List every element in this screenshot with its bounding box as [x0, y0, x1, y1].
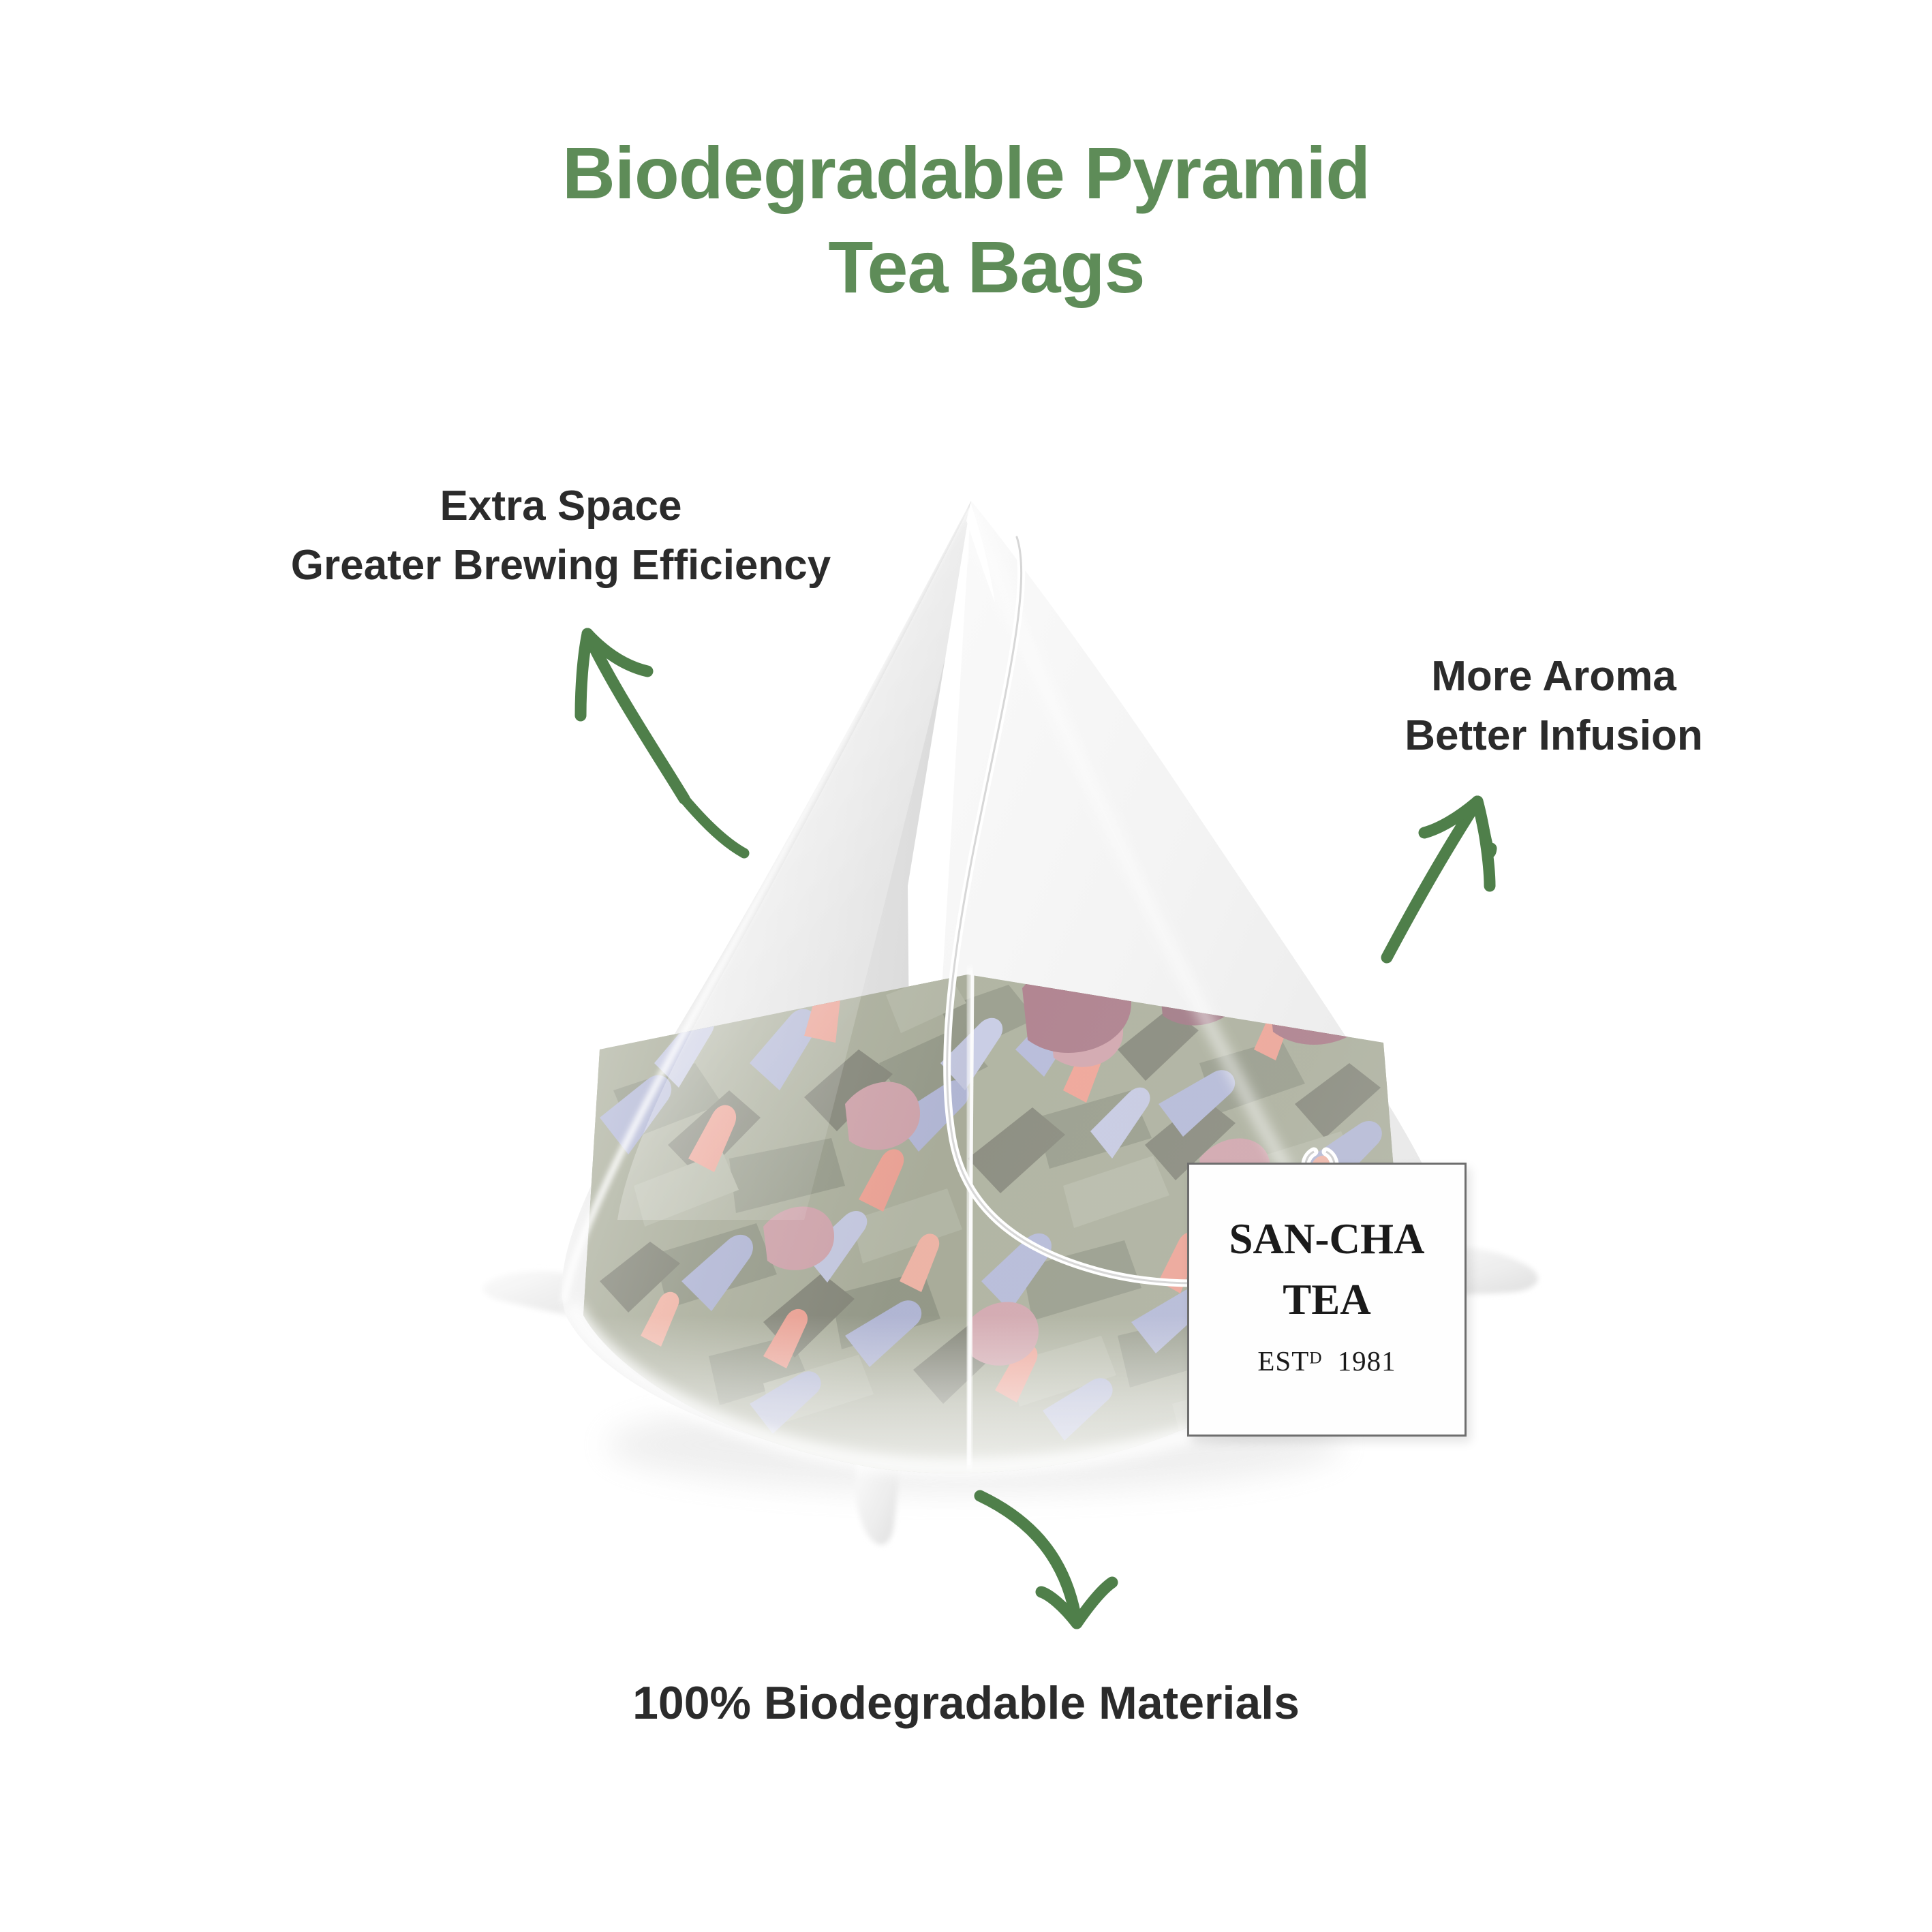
brand-tag: SAN-CHA TEA ESTD1981	[1187, 1163, 1467, 1437]
callout-bottom-line-1: 100% Biodegradable Materials	[0, 1671, 1932, 1736]
brand-name-line-1: SAN-CHA	[1189, 1218, 1465, 1261]
callout-left: Extra Space Greater Brewing Efficiency	[217, 477, 905, 596]
estd-year: 1981	[1338, 1345, 1396, 1377]
infographic-canvas: Biodegradable Pyramid Tea Bags	[0, 0, 1932, 1932]
brand-tag-text: SAN-CHA TEA ESTD1981	[1189, 1218, 1465, 1377]
callout-right: More Aroma Better Infusion	[1336, 647, 1772, 766]
tea-bag-illustration	[0, 0, 1932, 1932]
callout-left-line-2: Greater Brewing Efficiency	[217, 536, 905, 596]
estd-label: EST	[1257, 1345, 1309, 1377]
brand-name-line-2: TEA	[1189, 1278, 1465, 1321]
callout-bottom: 100% Biodegradable Materials	[0, 1671, 1932, 1736]
callout-left-line-1: Extra Space	[217, 477, 905, 536]
brand-established: ESTD1981	[1189, 1345, 1465, 1377]
estd-superscript: D	[1309, 1348, 1322, 1367]
callout-right-line-1: More Aroma	[1336, 647, 1772, 707]
arrow-right-head-barb	[1477, 801, 1490, 886]
arrow-left-shaft-tail	[684, 799, 744, 853]
arrow-left-shaft	[587, 634, 684, 799]
arrow-left	[581, 634, 744, 853]
arrow-right	[1387, 801, 1491, 957]
arrow-bottom	[980, 1496, 1112, 1623]
callout-right-line-2: Better Infusion	[1336, 707, 1772, 766]
